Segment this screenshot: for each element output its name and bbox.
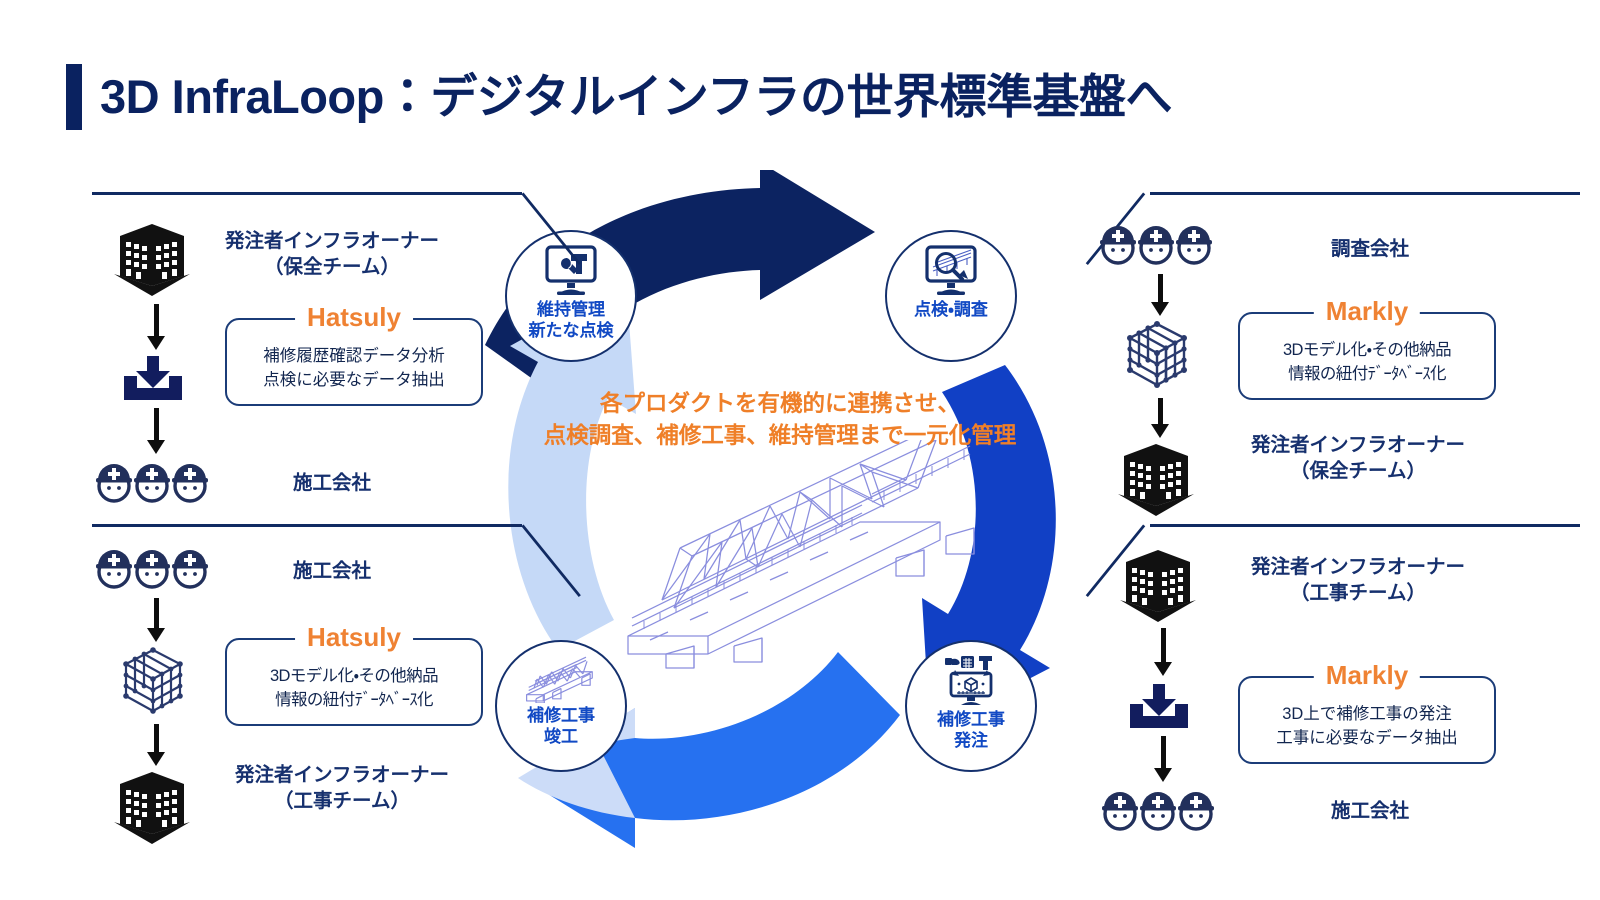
quadrant-rule (1150, 524, 1580, 527)
product-desc-line2: 工事に必要なデータ抽出 (1250, 726, 1484, 750)
monitor-magnifier-bridge-icon (921, 243, 981, 297)
product-desc-line1: 補修履歴確認データ分析 (237, 344, 471, 368)
cycle-node-repair-order[interactable]: 補修工事 発注 (905, 640, 1037, 772)
product-callout: 3Dモデル化・その他納品 情報の紐付ﾃﾞｰﾀﾍﾞｰｽ化 Hatsuly (225, 638, 483, 726)
quadrant-bottom-right: 発注者インフラオーナー （工事チーム） 3D上で補修工事の発注 工事に必要なデー… (1090, 524, 1560, 824)
pointcloud-cube-icon (1118, 316, 1196, 394)
workers-helmet-icon (1098, 222, 1214, 270)
quadrant-leg (520, 192, 610, 266)
quadrant-rule (92, 524, 522, 527)
product-desc-line2: 点検に必要なデータ抽出 (237, 368, 471, 392)
org-label-from: 発注者インフラオーナー （工事チーム） (1208, 554, 1508, 606)
product-desc-line2: 情報の紐付ﾃﾞｰﾀﾍﾞｰｽ化 (237, 688, 471, 712)
quadrant-top-left: 発注者インフラオーナー （保全チーム） 補修履歴確認データ分析 点検に必要なデー… (92, 192, 562, 492)
workers-helmet-icon (94, 546, 210, 594)
product-brand-name: Markly (1314, 296, 1420, 327)
org-label-from: 施工会社 (202, 558, 462, 584)
flow-connector (147, 724, 165, 766)
flow-connector (1151, 398, 1169, 438)
flow-connector (1151, 274, 1169, 316)
quadrant-rule (92, 192, 522, 195)
product-callout: 補修履歴確認データ分析 点検に必要なデータ抽出 Hatsuly (225, 318, 483, 406)
cycle-node-repair-order-label: 補修工事 発注 (937, 709, 1005, 751)
download-tray-icon (120, 354, 186, 404)
product-desc-line2: 情報の紐付ﾃﾞｰﾀﾍﾞｰｽ化 (1250, 362, 1484, 386)
product-desc-line1: 3D上で補修工事の発注 (1250, 702, 1484, 726)
workers-helmet-icon (1100, 788, 1216, 836)
org-label-to: 発注者インフラオーナー （工事チーム） (197, 762, 487, 814)
product-desc-line1: 3Dモデル化・その他納品 (1250, 338, 1484, 362)
product-callout: 3D上で補修工事の発注 工事に必要なデータ抽出 Markly (1238, 676, 1496, 764)
flow-connector (147, 598, 165, 642)
flow-connector (1154, 736, 1172, 782)
org-label-to: 発注者インフラオーナー （保全チーム） (1208, 432, 1508, 484)
product-brand-name: Hatsuly (295, 302, 413, 333)
office-building-icon (1116, 546, 1200, 624)
quadrant-leg (520, 524, 610, 598)
flow-connector (147, 304, 165, 350)
center-tagline: 各プロダクトを有機的に連携させ、 点検調査、補修工事、維持管理まで一元化管理 (530, 388, 1030, 452)
monitor-cube-order-icon (941, 653, 1001, 707)
office-building-icon (110, 768, 194, 846)
center-tagline-line2: 点検調査、補修工事、維持管理まで一元化管理 (530, 420, 1030, 452)
office-building-icon (1114, 440, 1198, 518)
center-bridge-illustration (610, 440, 990, 670)
org-label-to: 施工会社 (1220, 798, 1520, 824)
quadrant-rule (1150, 192, 1580, 195)
quadrant-top-right: 調査会社 3Dモデル化・その他納品 情報の紐付ﾃﾞｰﾀﾍﾞｰｽ化 Markly … (1090, 192, 1560, 492)
office-building-icon (110, 220, 194, 298)
flow-connector (147, 408, 165, 454)
cycle-node-inspection[interactable]: 点検・調査 (885, 230, 1017, 362)
org-label-from: 調査会社 (1220, 236, 1520, 262)
org-label-to: 施工会社 (202, 470, 462, 496)
product-desc-line1: 3Dモデル化・その他納品 (237, 664, 471, 688)
quadrant-bottom-left: 施工会社 3Dモデル化・その他納品 情報の紐付ﾃﾞｰﾀﾍﾞｰｽ化 Hatsuly… (92, 524, 562, 824)
workers-helmet-icon (94, 460, 210, 508)
flow-connector (1154, 628, 1172, 676)
page-title: 3D InfraLoop：デジタルインフラの世界標準基盤へ (100, 62, 1172, 132)
center-tagline-line1: 各プロダクトを有機的に連携させ、 (530, 388, 1030, 420)
product-brand-name: Markly (1314, 660, 1420, 691)
download-tray-icon (1126, 682, 1192, 732)
org-label-from: 発注者インフラオーナー （保全チーム） (202, 228, 462, 280)
product-callout: 3Dモデル化・その他納品 情報の紐付ﾃﾞｰﾀﾍﾞｰｽ化 Markly (1238, 312, 1496, 400)
title-accent-bar (66, 64, 82, 130)
pointcloud-cube-icon (114, 642, 192, 720)
product-brand-name: Hatsuly (295, 622, 413, 653)
cycle-node-inspection-label: 点検・調査 (914, 299, 988, 320)
